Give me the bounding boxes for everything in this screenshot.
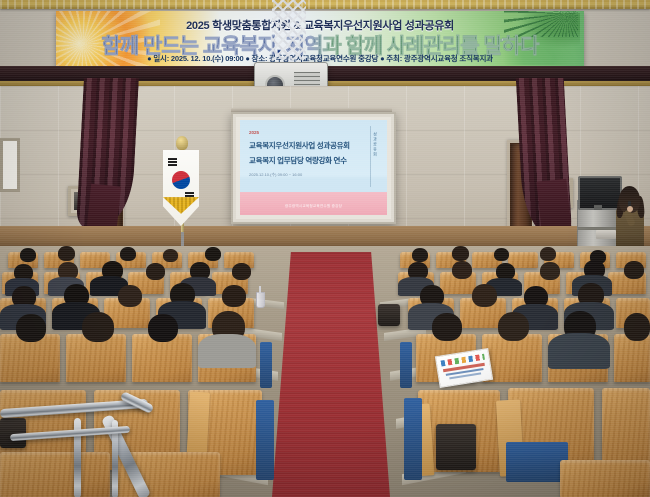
audience-head bbox=[624, 313, 650, 341]
trigram-icon-2b bbox=[185, 195, 194, 197]
trigram-icon-1 bbox=[168, 158, 177, 160]
audience-head bbox=[222, 285, 246, 307]
screen-surface: 성과공유회 2025 교육복지우선지원사업 성과공유회 교육복지 업무담당 역량… bbox=[236, 117, 391, 219]
audience-head bbox=[120, 247, 136, 261]
event-banner: 2025 학생맞춤통합지원 & 교육복지우선지원사업 성과공유회 함께 만드는 … bbox=[56, 11, 584, 67]
audience-head bbox=[16, 314, 46, 342]
seat-fabric-side bbox=[404, 398, 422, 480]
audience-head bbox=[540, 247, 556, 261]
trigram-icon-2 bbox=[185, 192, 194, 194]
audience-head bbox=[163, 249, 178, 262]
backpack bbox=[436, 424, 476, 470]
audience-head bbox=[232, 263, 251, 280]
audience-head bbox=[494, 248, 509, 261]
audience-head bbox=[624, 261, 644, 279]
scissor-lift-icon bbox=[272, 0, 306, 60]
seat bbox=[614, 334, 650, 382]
wall-frame-left bbox=[0, 138, 20, 192]
audience-head bbox=[452, 246, 469, 261]
presenter bbox=[616, 188, 644, 250]
slide-date: 2025.12.10.(수) 09:00 ~ 16:00 bbox=[249, 172, 302, 178]
stage-floor bbox=[0, 226, 650, 248]
audience-head bbox=[82, 312, 114, 342]
slide-side-tab-label: 성과공유회 bbox=[372, 132, 378, 157]
seat-fabric-side bbox=[400, 342, 412, 388]
handbag bbox=[378, 304, 400, 326]
monitor-stand bbox=[594, 205, 602, 210]
flag-finial-icon bbox=[176, 136, 188, 150]
seat-fabric-side bbox=[256, 400, 274, 480]
seat-fabric-side bbox=[260, 342, 272, 388]
trigram-icon-1c bbox=[168, 164, 177, 166]
seat bbox=[560, 460, 650, 497]
audience-head bbox=[540, 262, 560, 280]
audience-head bbox=[412, 248, 428, 262]
audience-head bbox=[118, 285, 142, 307]
projection-screen: 성과공유회 2025 교육복지우선지원사업 성과공유회 교육복지 업무담당 역량… bbox=[231, 112, 396, 224]
podium-papers bbox=[596, 230, 616, 239]
audience-head bbox=[58, 246, 75, 261]
audience-head bbox=[472, 284, 497, 307]
audience-head bbox=[148, 314, 178, 342]
trigram-icon-1b bbox=[168, 161, 177, 163]
slide-title-line1: 교육복지우선지원사업 성과공유회 bbox=[249, 140, 350, 151]
audience-head bbox=[146, 263, 165, 280]
slide-year: 2025 bbox=[249, 130, 259, 135]
audience-shoulders bbox=[198, 334, 256, 368]
audience-head bbox=[498, 312, 529, 341]
taeguk-symbol-icon bbox=[172, 171, 190, 189]
ceiling-trim bbox=[0, 0, 650, 9]
drink-cup bbox=[256, 292, 265, 308]
slide-title-line2: 교육복지 업무담당 역량강화 연수 bbox=[249, 155, 347, 166]
slide-side-tab: 성과공유회 bbox=[370, 126, 383, 187]
audience-head bbox=[432, 313, 462, 341]
flag-fringe bbox=[163, 197, 199, 214]
presentation-slide: 성과공유회 2025 교육복지우선지원사업 성과공유회 교육복지 업무담당 역량… bbox=[240, 120, 387, 215]
seat bbox=[0, 452, 110, 497]
audience-shoulders bbox=[548, 333, 610, 369]
audience-head bbox=[20, 248, 36, 262]
auditorium-photo: 2025 학생맞춤통합지원 & 교육복지우선지원사업 성과공유회 함께 만드는 … bbox=[0, 0, 650, 497]
slide-footer-text: 광주광역시교육청교육연수원 중강당 bbox=[240, 204, 387, 209]
audience-head bbox=[452, 261, 472, 279]
presenter-hand bbox=[627, 206, 633, 212]
slide-footer-band: 광주광역시교육청교육연수원 중강당 bbox=[240, 192, 387, 215]
audience-head bbox=[205, 247, 221, 261]
projector-lift-mount bbox=[272, 0, 306, 68]
seat-fabric-cushion bbox=[506, 442, 568, 482]
center-aisle-carpet bbox=[272, 252, 390, 497]
